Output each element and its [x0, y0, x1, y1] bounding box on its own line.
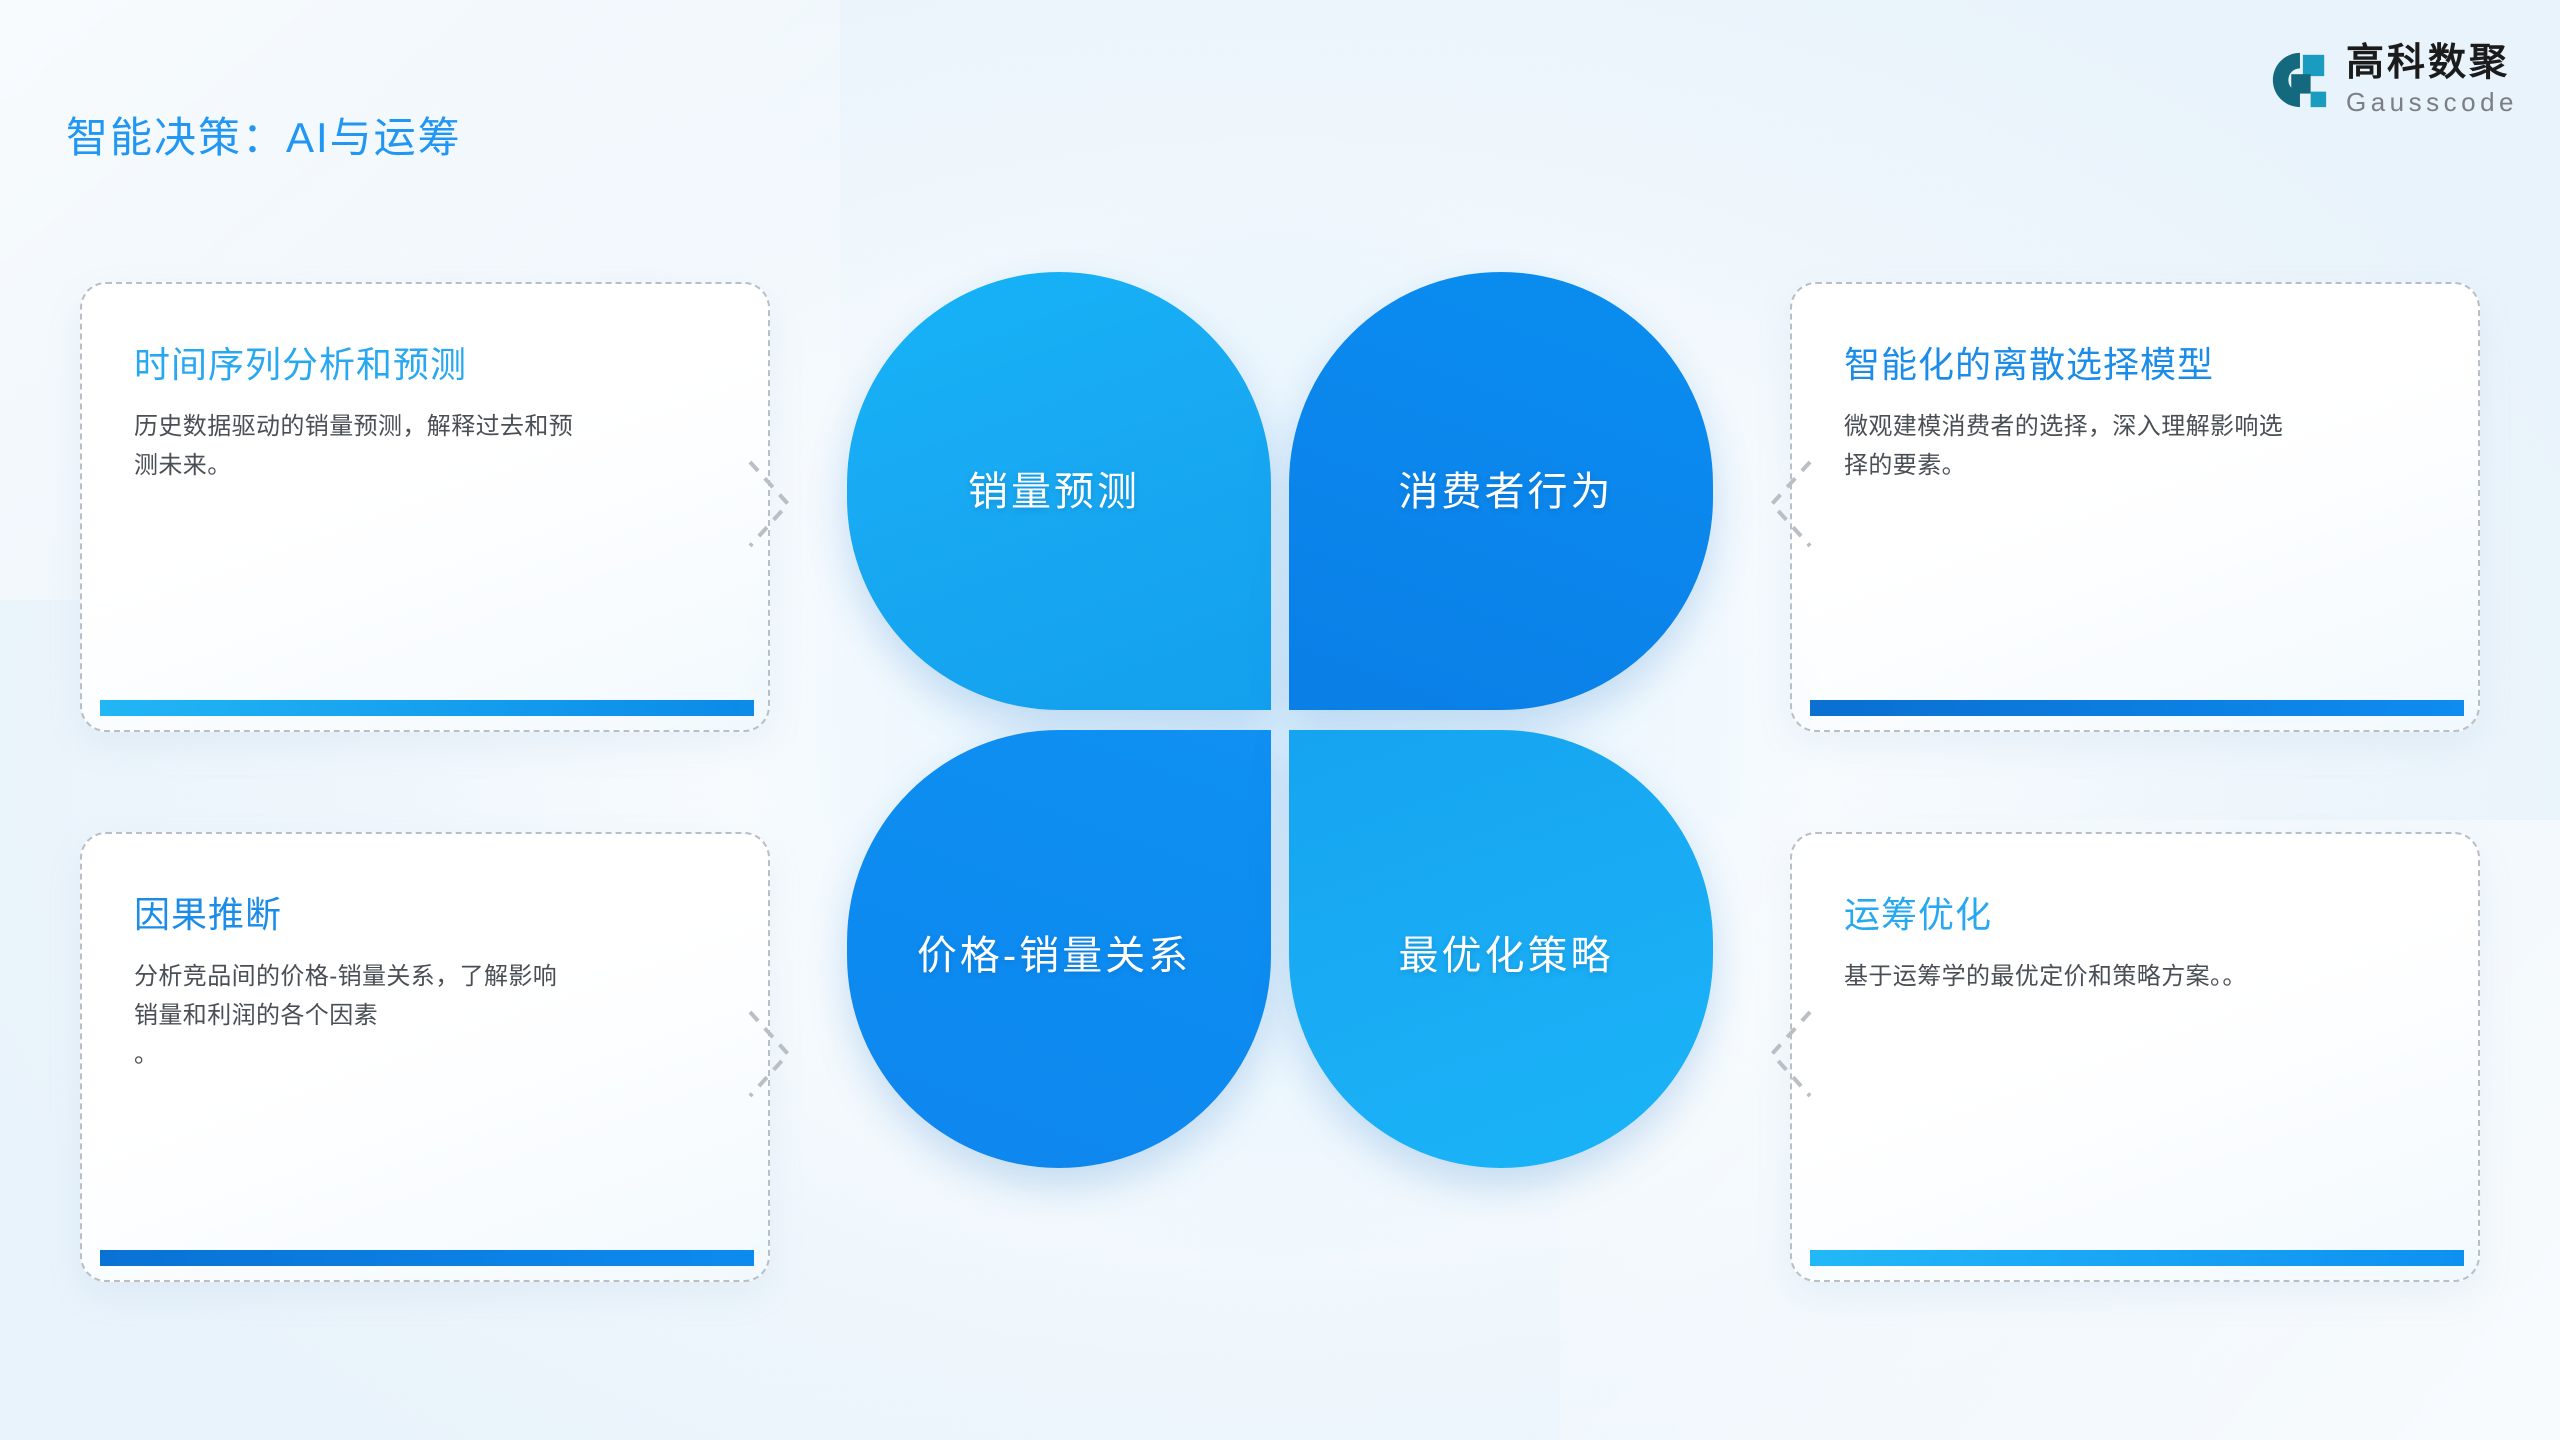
four-petal-diagram: 销量预测 消费者行为 价格-销量关系 最优化策略 [845, 270, 1715, 1170]
petal-label: 最优化策略 [1399, 923, 1614, 981]
info-card-operations-research[interactable]: 运筹优化 基于运筹学的最优定价和策略方案。。 [1790, 832, 2480, 1282]
slide-canvas: 智能决策：AI与运筹 高科数聚 Gausscode 时间序列分析和预测 历史数据… [0, 0, 2560, 1440]
petal-label: 价格-销量关系 [917, 923, 1191, 981]
logo-name-en: Gausscode [2346, 89, 2518, 115]
card-accent-bar [1810, 1250, 2464, 1266]
card-title: 智能化的离散选择模型 [1844, 336, 2426, 388]
petal-label: 消费者行为 [1399, 459, 1614, 517]
card-body: 基于运筹学的最优定价和策略方案。。 [1844, 958, 2426, 997]
card-accent-bar [1810, 700, 2464, 716]
logo-wordmark: 高科数聚 Gausscode [2346, 44, 2518, 115]
card-body: 微观建模消费者的选择，深入理解影响选 择的要素。 [1844, 408, 2426, 486]
info-card-time-series[interactable]: 时间序列分析和预测 历史数据驱动的销量预测，解释过去和预 测未来。 [80, 282, 770, 732]
card-body: 历史数据驱动的销量预测，解释过去和预 测未来。 [134, 408, 716, 486]
info-card-causal-inference[interactable]: 因果推断 分析竞品间的价格-销量关系，了解影响 销量和利润的各个因素 。 [80, 832, 770, 1282]
card-accent-bar [100, 1250, 754, 1266]
logo-name-cn: 高科数聚 [2346, 44, 2518, 82]
card-body: 分析竞品间的价格-销量关系，了解影响 销量和利润的各个因素 。 [134, 958, 716, 1075]
card-title: 运筹优化 [1844, 886, 2426, 938]
gausscode-g-mark-icon [2268, 49, 2330, 111]
petal-optimal-strategy[interactable]: 最优化策略 [1289, 730, 1713, 1168]
brand-logo: 高科数聚 Gausscode [2268, 44, 2518, 115]
petal-consumer-behavior[interactable]: 消费者行为 [1289, 272, 1713, 710]
card-content: 智能化的离散选择模型 微观建模消费者的选择，深入理解影响选 择的要素。 [1792, 284, 2478, 730]
petal-sales-forecast[interactable]: 销量预测 [847, 272, 1271, 710]
card-title: 时间序列分析和预测 [134, 336, 716, 388]
card-content: 运筹优化 基于运筹学的最优定价和策略方案。。 [1792, 834, 2478, 1280]
card-content: 因果推断 分析竞品间的价格-销量关系，了解影响 销量和利润的各个因素 。 [82, 834, 768, 1280]
card-title: 因果推断 [134, 886, 716, 938]
petal-label: 销量预测 [968, 459, 1140, 517]
page-title: 智能决策：AI与运筹 [66, 104, 462, 165]
card-accent-bar [100, 700, 754, 716]
info-card-discrete-choice[interactable]: 智能化的离散选择模型 微观建模消费者的选择，深入理解影响选 择的要素。 [1790, 282, 2480, 732]
card-content: 时间序列分析和预测 历史数据驱动的销量预测，解释过去和预 测未来。 [82, 284, 768, 730]
petal-price-volume-relationship[interactable]: 价格-销量关系 [847, 730, 1271, 1168]
